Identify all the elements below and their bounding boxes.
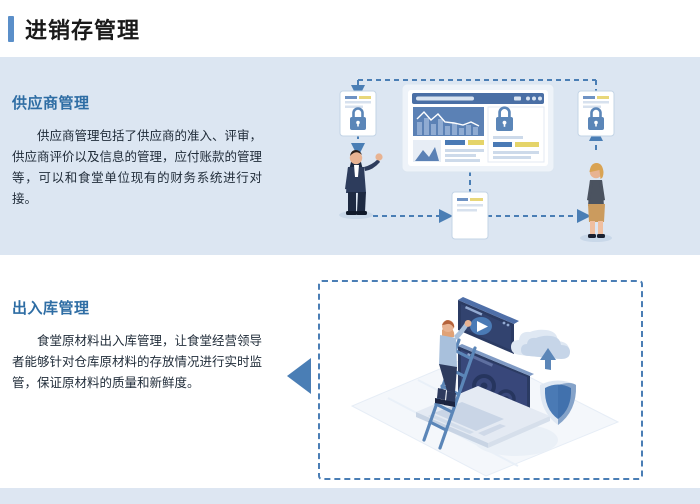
bar-line-chart [413,107,484,136]
locked-document-card-right [578,91,614,136]
section-supplier-text: 供应商管理 供应商管理包括了供应商的准入、评审，供应商评价以及信息的管理，应付账… [12,92,262,210]
play-button-icon [470,317,492,335]
lock-panel [488,107,544,162]
section-supplier-body: 供应商管理包括了供应商的准入、评审，供应商评价以及信息的管理，应付账款的管理等，… [12,126,262,210]
section-warehouse-body: 食堂原材料出入库管理，让食堂经营领导者能够针对仓库原材料的存放情况进行实时监管，… [12,331,262,394]
warehouse-isometric-scene [318,280,643,480]
section-supplier-heading: 供应商管理 [12,92,262,113]
footer-strip [0,488,700,504]
locked-document-card-left [340,91,376,136]
browser-window-dashboard [402,84,554,172]
pointer-triangle [287,358,311,394]
section-warehouse-heading: 出入库管理 [12,297,262,318]
section-warehouse-text: 出入库管理 食堂原材料出入库管理，让食堂经营领导者能够针对仓库原材料的存放情况进… [12,297,262,394]
plain-document-card-bottom [452,192,488,239]
supplier-network-illustration [318,62,638,252]
businesswoman-standing-figure [580,163,612,242]
warehouse-illustration-box [318,280,643,480]
page-title-bar: 进销存管理 [0,0,700,57]
page-root: 进销存管理 供应商管理 供应商管理包括了供应商的准入、评审，供应商评价以及信息的… [0,0,700,504]
cloud-upload-icon [511,330,570,370]
businessman-pointing-figure [339,150,383,219]
title-accent-bar [8,16,14,42]
page-title: 进销存管理 [25,13,140,45]
